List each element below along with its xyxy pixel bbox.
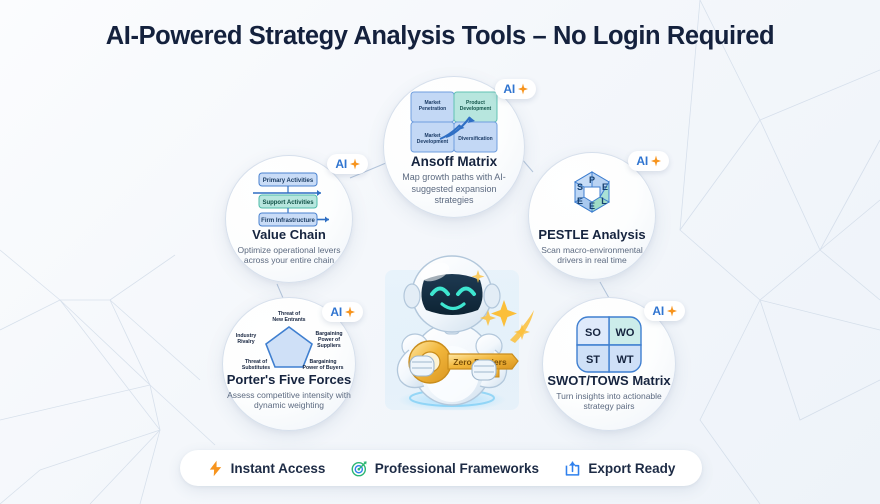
poster-canvas: AI-Powered Strategy Analysis Tools – No …	[0, 0, 880, 504]
ai-badge-ansoff: AI	[495, 79, 536, 99]
sparkle-icon	[666, 305, 678, 317]
svg-text:SO: SO	[585, 327, 601, 339]
ai-badge-swot: AI	[644, 301, 685, 321]
svg-text:Rivalry: Rivalry	[237, 339, 254, 345]
feature-label: Export Ready	[588, 461, 675, 476]
feature-professional-frameworks[interactable]: Professional Frameworks	[351, 460, 539, 477]
feature-export-ready[interactable]: Export Ready	[564, 460, 675, 477]
svg-text:L: L	[601, 196, 607, 206]
target-dart-icon	[351, 460, 368, 477]
card-title: Ansoff Matrix	[411, 155, 497, 169]
feature-label: Instant Access	[231, 461, 326, 476]
svg-text:E: E	[577, 196, 583, 206]
svg-text:Substitutes: Substitutes	[242, 365, 270, 371]
feature-label: Professional Frameworks	[375, 461, 539, 476]
export-arrow-icon	[564, 460, 581, 477]
card-subtitle: Optimize operational levers across your …	[233, 245, 345, 266]
svg-text:Development: Development	[460, 106, 492, 112]
feature-bar: Instant Access Professional Frameworks E…	[180, 450, 702, 486]
ai-robot-mascot: Zero Barriers	[352, 228, 552, 423]
svg-text:Firm Infrastructure: Firm Infrastructure	[261, 218, 315, 224]
ai-badge-value-chain: AI	[327, 154, 368, 174]
svg-text:S: S	[577, 182, 583, 192]
ai-badge-label: AI	[335, 157, 347, 171]
card-value-chain[interactable]: AI Primary Activities Support Activities…	[225, 155, 353, 283]
sparkle-icon	[344, 306, 356, 318]
card-subtitle: Map growth paths with AI-suggested expan…	[394, 172, 514, 206]
sparkle-icon	[349, 158, 361, 170]
page-title: AI-Powered Strategy Analysis Tools – No …	[0, 22, 880, 51]
svg-text:E: E	[589, 201, 595, 211]
svg-text:WO: WO	[616, 327, 635, 339]
svg-text:New Entrants: New Entrants	[272, 317, 305, 323]
svg-text:Diversification: Diversification	[458, 136, 492, 142]
ansoff-matrix-icon: Market Penetration Product Development M…	[410, 91, 498, 153]
svg-text:E: E	[602, 182, 608, 192]
ai-badge-label: AI	[652, 304, 664, 318]
sparkle-icon	[650, 155, 662, 167]
ai-badge-label: AI	[330, 305, 342, 319]
ai-badge-porter: AI	[322, 302, 363, 322]
svg-text:WT: WT	[616, 354, 633, 366]
value-chain-icon: Primary Activities Support Activities Fi…	[243, 172, 335, 228]
card-subtitle: Assess competitive intensity with dynami…	[227, 390, 351, 411]
svg-text:Suppliers: Suppliers	[317, 343, 341, 349]
svg-text:ST: ST	[586, 354, 600, 366]
svg-text:Penetration: Penetration	[419, 106, 447, 112]
ai-badge-label: AI	[636, 154, 648, 168]
lightning-bolt-icon	[207, 460, 224, 477]
svg-text:Support Activities: Support Activities	[262, 200, 314, 206]
card-ansoff-matrix[interactable]: AI Market Penetration Product Developmen…	[383, 76, 525, 218]
ai-badge-label: AI	[503, 82, 515, 96]
card-title: PESTLE Analysis	[538, 228, 645, 242]
card-subtitle: Scan macro-environmental drivers in real…	[536, 245, 648, 266]
ai-badge-pestle: AI	[628, 151, 669, 171]
svg-text:P: P	[589, 175, 595, 185]
feature-instant-access[interactable]: Instant Access	[207, 460, 326, 477]
svg-text:Power of Buyers: Power of Buyers	[303, 365, 344, 371]
sparkle-icon	[517, 83, 529, 95]
card-porters-five-forces[interactable]: AI Threat of New Entrants Bargaining Pow…	[222, 297, 356, 431]
card-swot-tows-matrix[interactable]: AI SO WO ST WT SWOT/TOWS Matrix Turn ins…	[542, 297, 676, 431]
svg-text:Primary Activities: Primary Activities	[263, 178, 314, 184]
swot-matrix-icon: SO WO ST WT	[576, 316, 642, 374]
card-title: Value Chain	[252, 228, 326, 242]
card-subtitle: Turn insights into actionable strategy p…	[549, 391, 669, 412]
pestle-hexagon-icon: P E L E E S	[560, 170, 624, 228]
svg-text:Development: Development	[417, 139, 449, 145]
card-title: Porter's Five Forces	[227, 373, 351, 387]
card-title: SWOT/TOWS Matrix	[547, 374, 670, 388]
